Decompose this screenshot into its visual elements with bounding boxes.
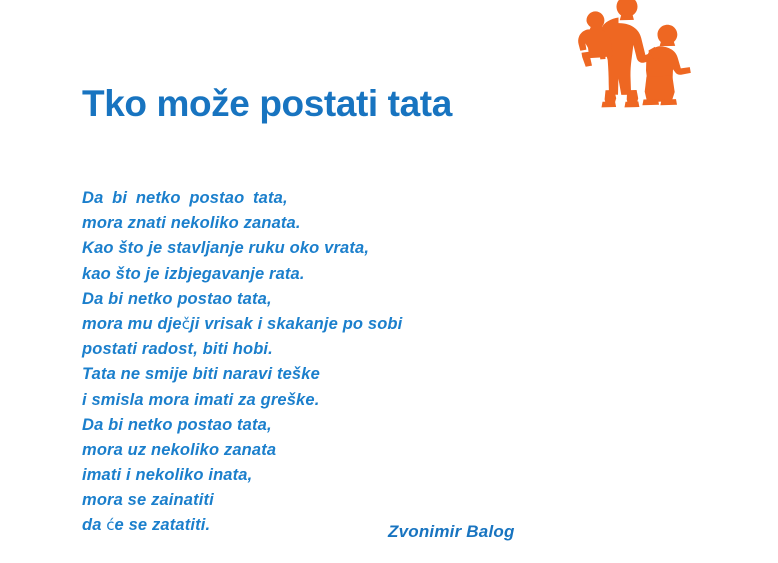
poem-line: i smisla mora imati za greške.	[82, 388, 512, 413]
author-attribution: Zvonimir Balog	[388, 522, 515, 542]
poem-line: Da bi netko postao tata,	[82, 287, 512, 312]
poem-line: Da bi netko postao tata,	[82, 186, 512, 211]
slide-canvas: Tko može postati tata Da bi netko postao…	[0, 0, 778, 563]
poem-line: Kao što je stavljanje ruku oko vrata,	[82, 236, 512, 261]
poem-body: Da bi netko postao tata, mora znati neko…	[82, 186, 512, 539]
poem-line: mora znati nekoliko zanata.	[82, 211, 512, 236]
fallback-diacritic-glyph: č	[182, 315, 190, 333]
poem-line: postati radost, biti hobi.	[82, 337, 512, 362]
page-title: Tko može postati tata	[82, 83, 452, 126]
poem-line: mora uz nekoliko zanata	[82, 438, 512, 463]
poem-line: mora se zainatiti	[82, 488, 512, 513]
fallback-diacritic-glyph: ć	[106, 516, 114, 534]
father-with-children-silhouette-icon	[556, 0, 716, 114]
poem-line: kao što je izbjegavanje rata.	[82, 262, 512, 287]
poem-line: Tata ne smije biti naravi teške	[82, 362, 512, 387]
silhouette-shapes	[578, 0, 691, 107]
poem-line: Da bi netko postao tata,	[82, 413, 512, 438]
poem-line: imati i nekoliko inata,	[82, 463, 512, 488]
poem-line: mora mu dječji vrisak i skakanje po sobi	[82, 312, 512, 337]
